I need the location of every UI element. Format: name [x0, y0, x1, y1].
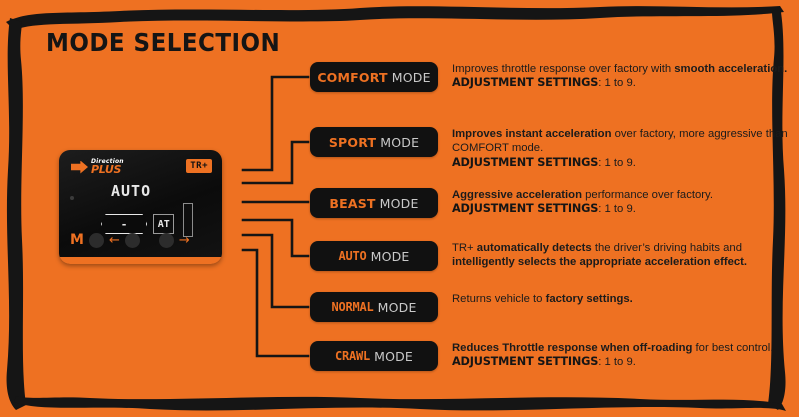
mode-chip-sport[interactable]: SPORT MODE — [310, 127, 438, 157]
mode-description-comfort: Improves throttle response over factory … — [452, 62, 790, 91]
adjustment-settings-value: : 1 to 9. — [598, 157, 636, 169]
mode-chip-word: MODE — [380, 196, 419, 211]
arrow-left-icon: ← — [109, 234, 120, 247]
adjustment-settings-value: : 1 to 9. — [598, 203, 636, 215]
adjustment-settings-label: ADJUSTMENT SETTINGS — [452, 76, 598, 89]
mode-chip-word: MODE — [371, 249, 410, 264]
desc-emphasis: Reduces Throttle response when off-roadi… — [452, 342, 692, 354]
desc-plain: the driver’s driving habits and — [592, 242, 742, 254]
desc-plain: Improves throttle response over factory … — [452, 63, 674, 75]
desc-text: Reduces Throttle response when off-roadi… — [452, 342, 773, 368]
brand-plus-text: PLUS — [91, 164, 124, 175]
adjustment-settings-label: ADJUSTMENT SETTINGS — [452, 355, 598, 368]
desc-emphasis: Improves instant acceleration — [452, 128, 611, 140]
mode-chip-beast[interactable]: BEAST MODE — [310, 188, 438, 218]
device-button-up[interactable] — [159, 233, 174, 248]
mode-chip-word: MODE — [380, 135, 419, 150]
desc-text: Returns vehicle to factory settings. — [452, 293, 633, 305]
screen-transmission-badge: AT — [153, 214, 174, 234]
desc-plain: for best control. — [692, 342, 773, 354]
desc-emphasis: factory settings. — [546, 293, 633, 305]
mode-chip-name: SPORT — [329, 135, 376, 150]
desc-emphasis: intelligently selects the appropriate ac… — [452, 256, 747, 268]
adjustment-settings-label: ADJUSTMENT SETTINGS — [452, 202, 598, 215]
screen-level-value: - — [121, 218, 128, 231]
desc-plain: performance over factory. — [582, 189, 713, 201]
device-button-mode[interactable] — [89, 233, 104, 248]
screen-level-indicator: - — [101, 214, 147, 234]
status-led-icon — [70, 196, 74, 200]
page-title: MODE SELECTION — [46, 28, 280, 57]
mode-chip-word: MODE — [392, 70, 431, 85]
desc-text: Improves instant acceleration over facto… — [452, 128, 788, 169]
mode-row-beast: BEAST MODE Aggressive acceleration perfo… — [310, 188, 790, 218]
mode-chip-crawl[interactable]: CRAWL MODE — [310, 341, 438, 371]
device-button-row: M ← → — [70, 232, 190, 248]
tr-plus-badge: TR+ — [186, 159, 212, 173]
mode-row-sport: SPORT MODE Improves instant acceleration… — [310, 127, 790, 170]
desc-emphasis: Aggressive acceleration — [452, 189, 582, 201]
mode-chip-name: BEAST — [329, 196, 375, 211]
mode-description-sport: Improves instant acceleration over facto… — [452, 127, 790, 170]
mode-description-normal: Returns vehicle to factory settings. — [452, 292, 790, 306]
adjustment-settings-value: : 1 to 9. — [598, 77, 636, 89]
screen-mode-label: AUTO — [111, 184, 193, 199]
desc-plain: TR+ — [452, 242, 477, 254]
mode-chip-name: CRAWL — [335, 349, 370, 363]
mode-chip-word: MODE — [378, 300, 417, 315]
desc-emphasis: smooth acceleration. — [674, 63, 787, 75]
desc-plain: Returns vehicle to — [452, 293, 546, 305]
device-button-down[interactable] — [125, 233, 140, 248]
desc-emphasis: automatically detects — [477, 242, 592, 254]
mode-button-label[interactable]: M — [70, 232, 84, 248]
desc-text: TR+ automatically detects the driver’s d… — [452, 242, 747, 268]
device-screen: AUTO - AT — [101, 184, 193, 232]
mode-description-beast: Aggressive acceleration performance over… — [452, 188, 790, 217]
desc-text: Improves throttle response over factory … — [452, 63, 787, 89]
adjustment-settings-label: ADJUSTMENT SETTINGS — [452, 156, 598, 169]
mode-row-comfort: COMFORT MODE Improves throttle response … — [310, 62, 790, 92]
mode-row-auto: AUTO MODE TR+ automatically detects the … — [310, 241, 790, 271]
mode-chip-word: MODE — [374, 349, 413, 364]
mode-selection-poster: MODE SELECTION Direction PLUS TR+ AUTO -… — [0, 0, 799, 417]
mode-description-auto: TR+ automatically detects the driver’s d… — [452, 241, 790, 270]
throttle-controller-device: Direction PLUS TR+ AUTO - AT M ← → — [59, 150, 222, 264]
mode-chip-name: NORMAL — [331, 300, 373, 314]
mode-row-normal: NORMAL MODE Returns vehicle to factory s… — [310, 292, 790, 322]
mode-chip-name: AUTO — [338, 249, 366, 263]
mode-chip-auto[interactable]: AUTO MODE — [310, 241, 438, 271]
adjustment-settings-value: : 1 to 9. — [598, 356, 636, 368]
mode-chip-normal[interactable]: NORMAL MODE — [310, 292, 438, 322]
mode-description-crawl: Reduces Throttle response when off-roadi… — [452, 341, 790, 370]
arrow-right-icon: → — [179, 234, 190, 247]
mode-chip-name: COMFORT — [317, 70, 387, 85]
arrow-logo-icon — [71, 161, 88, 174]
direction-plus-logo: Direction PLUS — [71, 159, 124, 175]
mode-chip-comfort[interactable]: COMFORT MODE — [310, 62, 438, 92]
desc-text: Aggressive acceleration performance over… — [452, 189, 713, 215]
mode-row-crawl: CRAWL MODE Reduces Throttle response whe… — [310, 341, 790, 371]
